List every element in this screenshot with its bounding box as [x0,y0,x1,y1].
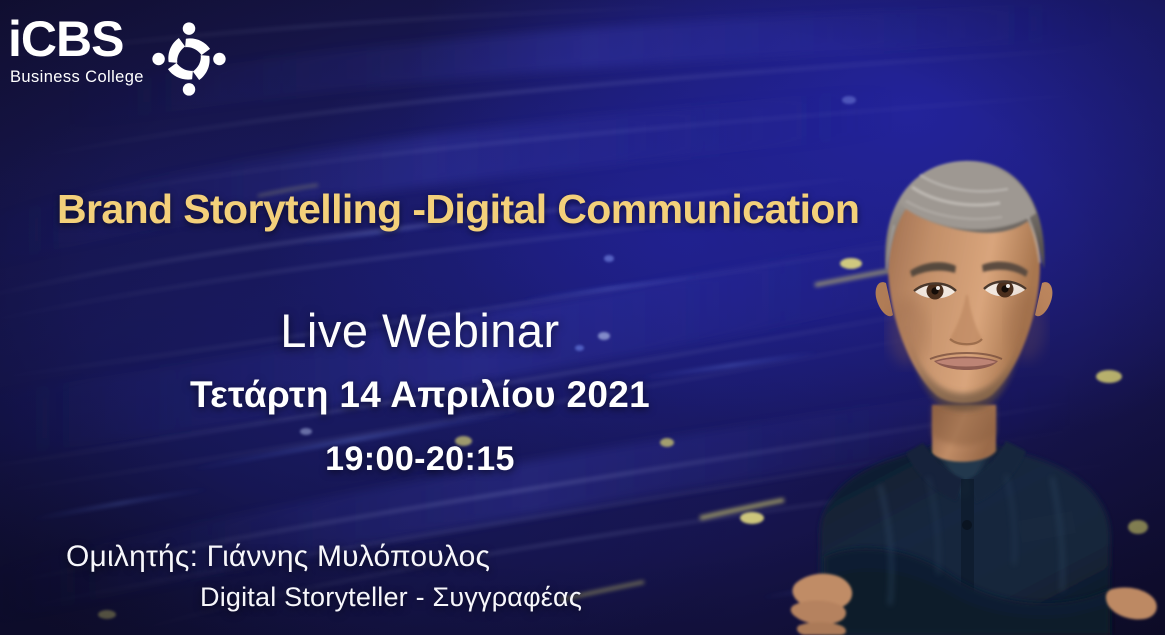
event-date: Τετάρτη 14 Απριλίου 2021 [0,374,840,416]
page-title: Brand Storytelling -Digital Communicatio… [57,186,859,233]
speaker-role: Digital Storyteller - Συγγραφέας [200,582,582,613]
speaker-portrait [760,105,1165,635]
icbs-logo[interactable]: iCBS Business College [8,14,228,103]
webinar-promo-banner: iCBS Business College [0,0,1165,635]
logo-subtitle-text: Business College [10,69,144,86]
event-time: 19:00-20:15 [0,440,840,479]
four-people-diamond-icon [150,20,228,103]
logo-wordmark: iCBS Business College [8,14,144,86]
logo-main-text: iCBS [8,14,144,64]
speaker-name: Ομιλητής: Γιάννης Μυλόπουλος [66,540,490,574]
event-format: Live Webinar [0,303,840,358]
